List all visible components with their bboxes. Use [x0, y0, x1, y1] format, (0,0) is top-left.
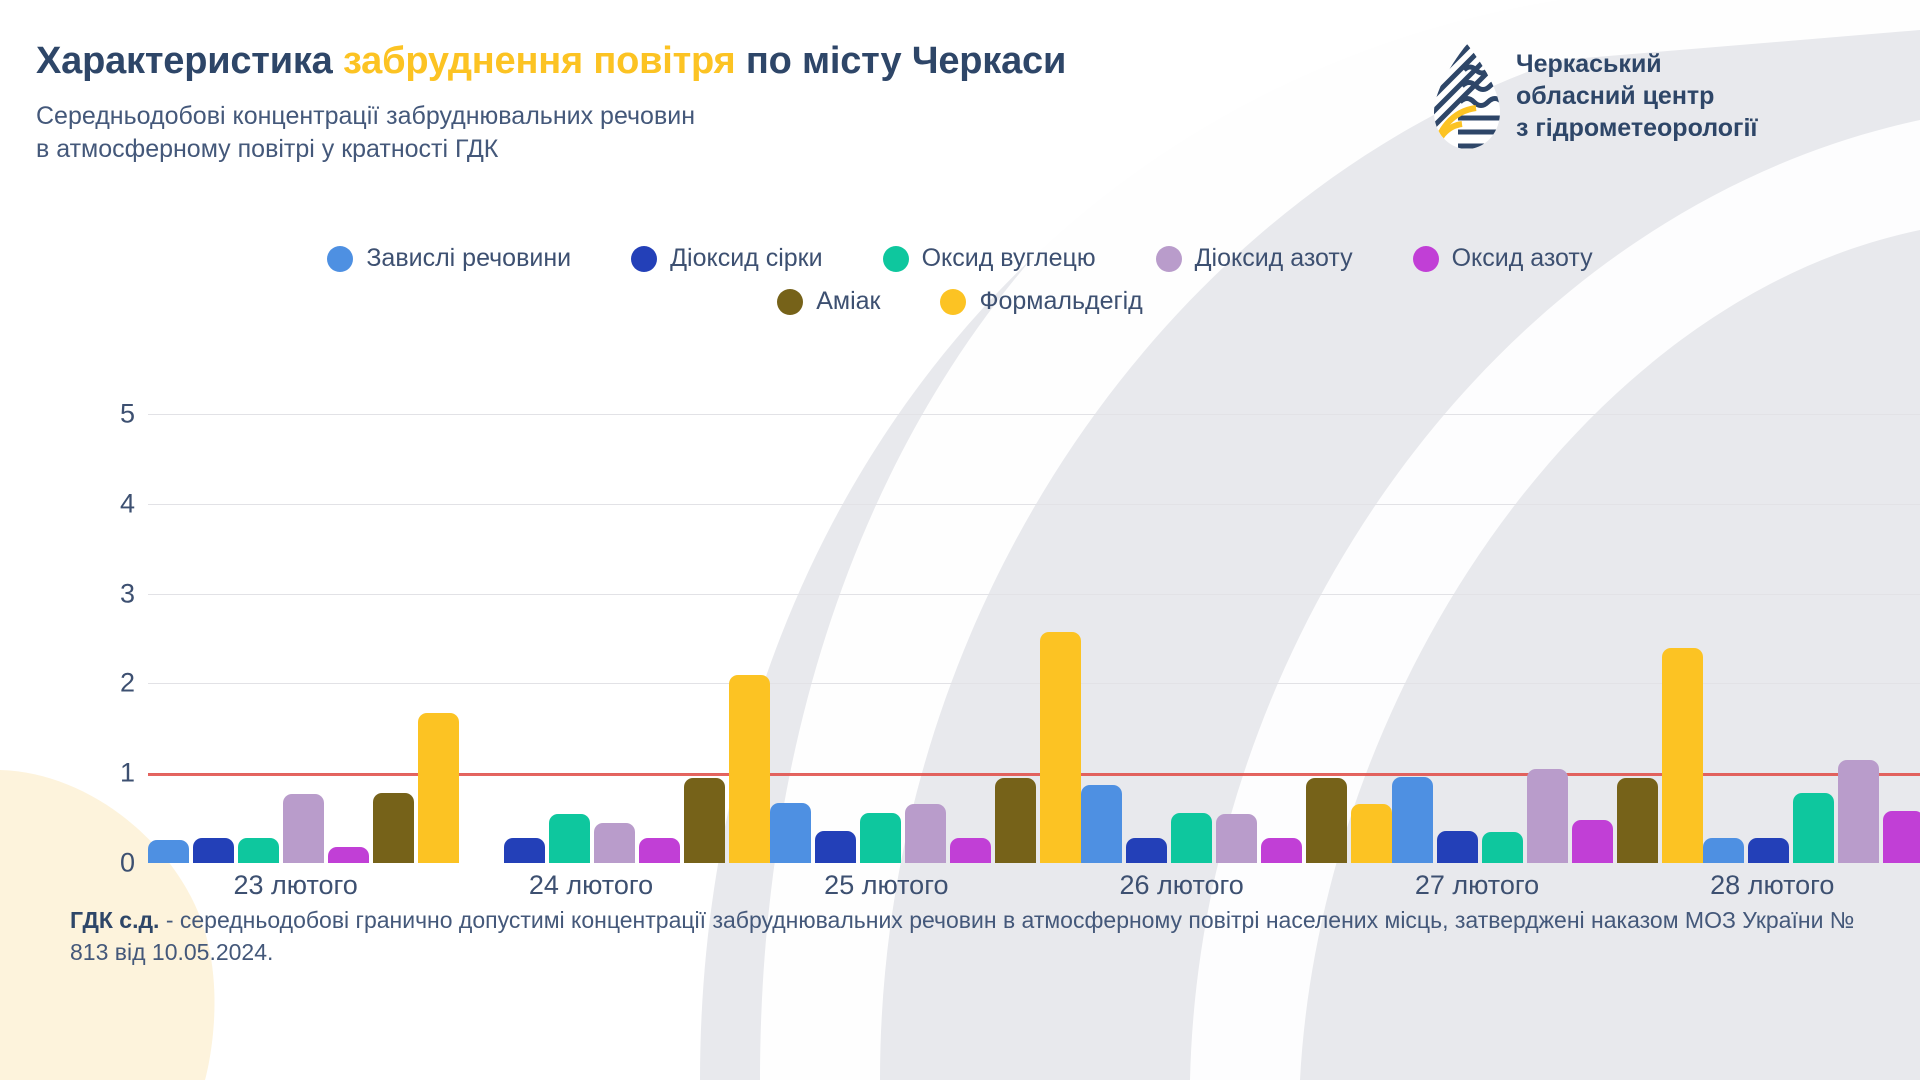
x-axis-tick-label: 23 лютого: [148, 870, 443, 901]
footnote: ГДК с.д. - середньодобові гранично допус…: [70, 905, 1870, 968]
chart-legend: Завислі речовини Діоксид сірки Оксид вуг…: [0, 244, 1920, 330]
bar[interactable]: [1081, 785, 1122, 863]
bar[interactable]: [594, 823, 635, 863]
bar-group: [148, 378, 459, 863]
legend-label: Оксид вуглецю: [922, 244, 1096, 273]
bar[interactable]: [283, 794, 324, 863]
title-highlight: забруднення повітря: [343, 40, 736, 82]
legend-label: Завислі речовини: [366, 244, 571, 273]
legend-swatch-icon: [777, 289, 803, 315]
bar[interactable]: [1171, 813, 1212, 863]
bar[interactable]: [639, 838, 680, 863]
legend-item-ammonia[interactable]: Аміак: [777, 287, 880, 316]
legend-label: Діоксид сірки: [670, 244, 822, 273]
legend-label: Діоксид азоту: [1195, 244, 1353, 273]
bar-group: [770, 378, 1081, 863]
bar[interactable]: [328, 847, 369, 863]
chart-plot-area: [148, 378, 1920, 863]
bar[interactable]: [684, 778, 725, 863]
bar[interactable]: [148, 840, 189, 863]
legend-item-sulfur-dioxide[interactable]: Діоксид сірки: [631, 244, 822, 273]
legend-item-formaldehyde[interactable]: Формальдегід: [940, 287, 1142, 316]
x-axis-tick-label: 25 лютого: [739, 870, 1034, 901]
bar[interactable]: [729, 675, 770, 863]
water-droplet-icon: [1428, 42, 1506, 152]
bar[interactable]: [1392, 777, 1433, 863]
bar[interactable]: [1216, 814, 1257, 863]
y-axis-tick-label: 5: [85, 398, 135, 429]
x-axis-tick-label: 28 лютого: [1625, 870, 1920, 901]
y-axis-tick-label: 1: [85, 758, 135, 789]
bar[interactable]: [418, 713, 459, 863]
organization-logo: Черкаський обласний центр з гідрометеоро…: [1428, 42, 1898, 162]
bar[interactable]: [1703, 838, 1744, 863]
bar[interactable]: [504, 838, 545, 863]
bar-group: [1703, 378, 1920, 863]
bar[interactable]: [770, 803, 811, 863]
bar-group: [1081, 378, 1392, 863]
bar[interactable]: [1351, 804, 1392, 863]
footnote-text: - середньодобові гранично допустимі конц…: [70, 907, 1854, 965]
bar[interactable]: [373, 793, 414, 863]
bar[interactable]: [905, 804, 946, 863]
legend-label: Оксид азоту: [1452, 244, 1593, 273]
bar-group: [459, 378, 770, 863]
legend-swatch-icon: [327, 246, 353, 272]
bar[interactable]: [1527, 769, 1568, 863]
bar[interactable]: [1883, 811, 1920, 863]
bar[interactable]: [995, 778, 1036, 863]
page-title: Характеристика забруднення повітря по мі…: [36, 40, 1066, 83]
bar[interactable]: [1040, 632, 1081, 863]
legend-item-carbon-monoxide[interactable]: Оксид вуглецю: [883, 244, 1096, 273]
bar[interactable]: [1306, 778, 1347, 863]
bar[interactable]: [950, 838, 991, 863]
bar[interactable]: [1261, 838, 1302, 863]
bar[interactable]: [860, 813, 901, 863]
legend-swatch-icon: [1156, 246, 1182, 272]
legend-swatch-icon: [1413, 246, 1439, 272]
x-axis-tick-label: 26 лютого: [1034, 870, 1329, 901]
bar[interactable]: [1662, 648, 1703, 863]
legend-label: Формальдегід: [979, 287, 1142, 316]
bar[interactable]: [1126, 838, 1167, 863]
legend-item-nitrogen-dioxide[interactable]: Діоксид азоту: [1156, 244, 1353, 273]
bar-group: [1392, 378, 1703, 863]
legend-row-1: Завислі речовини Діоксид сірки Оксид вуг…: [0, 244, 1920, 273]
bar[interactable]: [1793, 793, 1834, 863]
y-axis-tick-label: 3: [85, 578, 135, 609]
legend-item-suspended-particles[interactable]: Завислі речовини: [327, 244, 571, 273]
bar[interactable]: [1437, 831, 1478, 863]
legend-label: Аміак: [816, 287, 880, 316]
title-part-2: по місту Черкаси: [736, 40, 1067, 82]
bar[interactable]: [1572, 820, 1613, 863]
title-part-1: Характеристика: [36, 40, 343, 82]
legend-item-nitrogen-oxide[interactable]: Оксид азоту: [1413, 244, 1593, 273]
page-subtitle: Середньодобові концентрації забруднюваль…: [36, 100, 695, 166]
y-axis-tick-label: 0: [85, 848, 135, 879]
legend-swatch-icon: [883, 246, 909, 272]
x-axis-tick-label: 27 лютого: [1329, 870, 1624, 901]
x-axis-tick-label: 24 лютого: [443, 870, 738, 901]
bar-chart: 012345 23 лютого24 лютого25 лютого26 лют…: [0, 378, 1920, 898]
bar[interactable]: [549, 814, 590, 863]
page-header: Характеристика забруднення повітря по мі…: [0, 0, 1920, 190]
bar[interactable]: [1748, 838, 1789, 863]
bar[interactable]: [815, 831, 856, 863]
logo-text: Черкаський обласний центр з гідрометеоро…: [1516, 48, 1757, 144]
legend-row-2: Аміак Формальдегід: [0, 287, 1920, 316]
bar[interactable]: [193, 838, 234, 863]
y-axis-tick-label: 4: [85, 488, 135, 519]
bar[interactable]: [238, 838, 279, 863]
x-axis: 23 лютого24 лютого25 лютого26 лютого27 л…: [148, 870, 1920, 901]
y-axis: 012345: [85, 378, 135, 868]
bar[interactable]: [1482, 832, 1523, 863]
bar[interactable]: [1838, 760, 1879, 863]
legend-swatch-icon: [631, 246, 657, 272]
legend-swatch-icon: [940, 289, 966, 315]
y-axis-tick-label: 2: [85, 668, 135, 699]
bar[interactable]: [1617, 778, 1658, 863]
footnote-term: ГДК с.д.: [70, 907, 159, 933]
